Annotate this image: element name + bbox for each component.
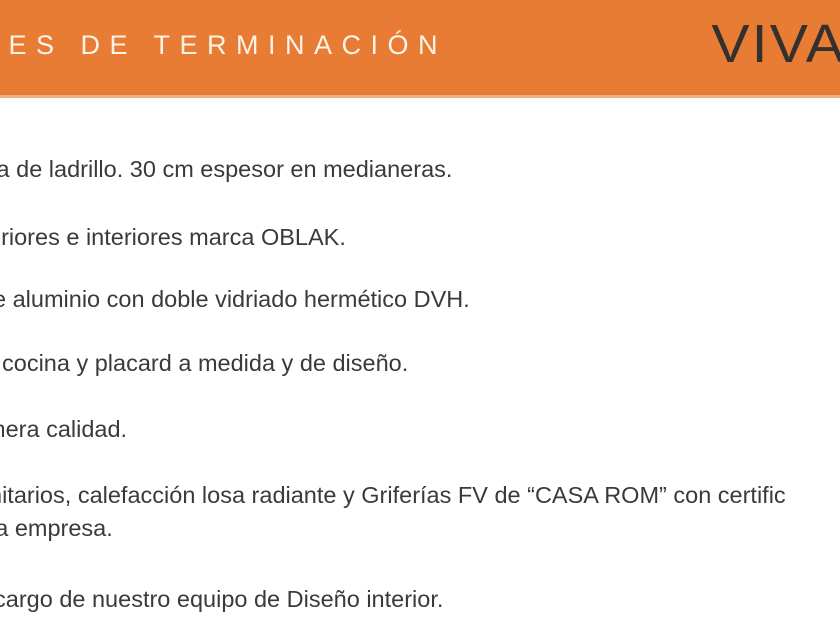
body-line-4: cocina y placard a medida y de diseño. [2,348,408,378]
slide-canvas: LES DE TERMINACIÓN VIVA ía de ladrillo. … [0,0,840,630]
body-text-block: ía de ladrillo. 30 cm espesor en mediane… [0,98,840,630]
body-line-5: mera calidad. [0,414,127,444]
brand-logo: VIVA [711,14,840,74]
body-line-6: nitarios, calefacción losa radiante y Gr… [0,480,786,510]
body-line-2: eriores e interiores marca OBLAK. [0,222,346,252]
body-line-8: cargo de nuestro equipo de Diseño interi… [0,584,443,614]
body-line-3: e aluminio con doble vidriado hermético … [0,284,470,314]
body-line-1: ía de ladrillo. 30 cm espesor en mediane… [0,154,452,184]
page-title: LES DE TERMINACIÓN [0,28,447,62]
body-line-7: la empresa. [0,513,113,543]
header-band: LES DE TERMINACIÓN VIVA [0,0,840,98]
